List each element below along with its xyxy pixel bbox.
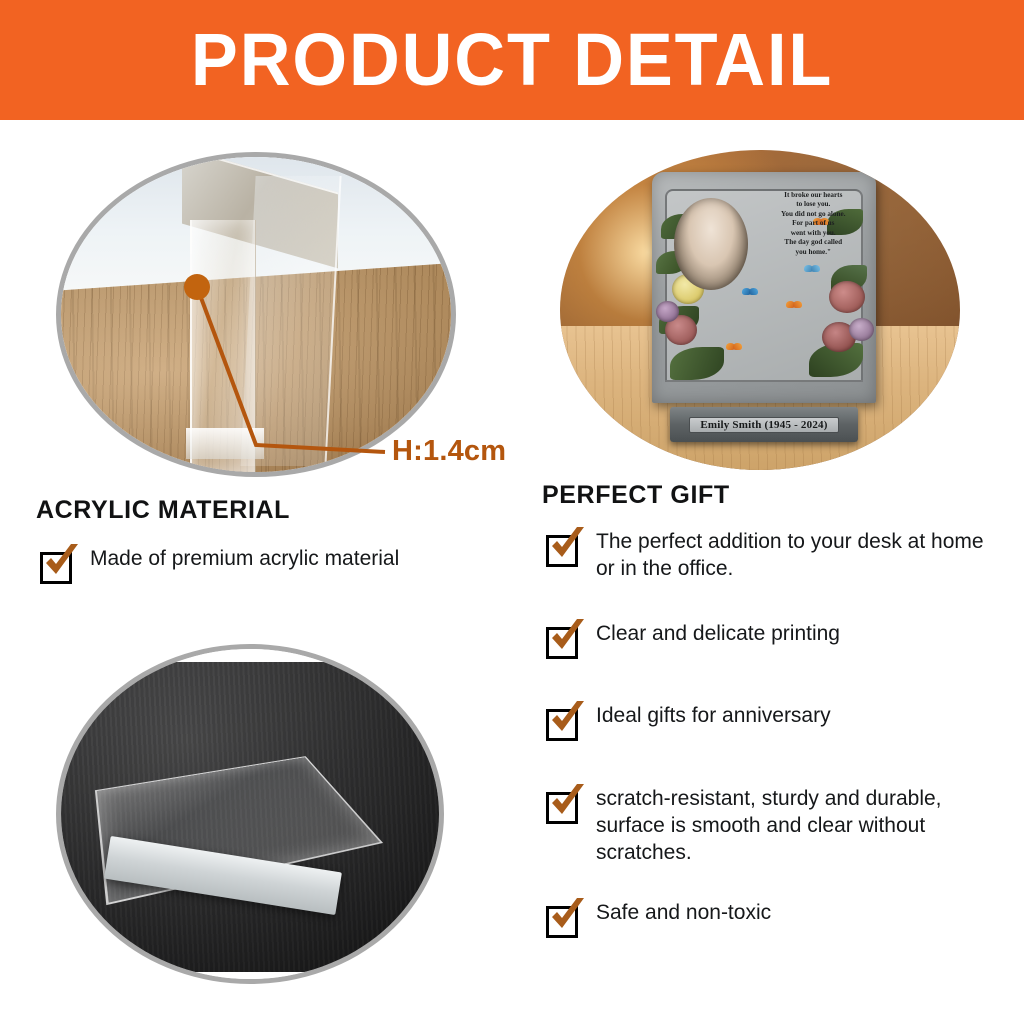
memorial-portrait (674, 198, 748, 290)
feature-bullet: scratch-resistant, sturdy and durable, s… (546, 786, 996, 867)
header-banner: PRODUCT DETAIL (0, 0, 1024, 120)
product-detail-page: PRODUCT DETAIL (0, 0, 1024, 1024)
checkmark-icon (39, 542, 81, 584)
acrylic-block-photo (56, 644, 444, 984)
feature-bullet: The perfect addition to your desk at hom… (546, 529, 996, 583)
rose-decor (829, 281, 865, 313)
checkmark-icon (545, 699, 587, 741)
section-title-acrylic-material: ACRYLIC MATERIAL (36, 496, 290, 525)
checkmark-icon (545, 525, 587, 567)
checkmark-icon (545, 617, 587, 659)
wood-scene (61, 157, 451, 472)
acrylic-edge-photo (56, 152, 456, 477)
rose-decor (849, 318, 874, 341)
checkmark-icon (545, 782, 587, 824)
checkbox-checked-icon (546, 902, 582, 938)
memorial-nameplate: Emily Smith (1945 - 2024) (670, 407, 858, 442)
page-title: PRODUCT DETAIL (191, 23, 833, 97)
feature-bullet-text: Ideal gifts for anniversary (596, 703, 831, 730)
feature-bullet: Safe and non-toxic (546, 900, 771, 938)
checkbox-checked-icon (546, 788, 582, 824)
memorial-plaque: It broke our hearts to lose you. You did… (652, 172, 876, 402)
feature-bullet-text: Clear and delicate printing (596, 621, 840, 648)
acrylic-base-highlight (186, 428, 264, 460)
checkbox-checked-icon (546, 531, 582, 567)
checkmark-icon (545, 896, 587, 938)
feature-bullet-text: scratch-resistant, sturdy and durable, s… (596, 786, 996, 867)
dimension-label: H:1.4cm (392, 435, 506, 468)
feature-bullet-text: Safe and non-toxic (596, 900, 771, 927)
feature-bullet: Clear and delicate printing (546, 621, 840, 659)
slate-scene (61, 649, 439, 979)
feature-bullet-text: Made of premium acrylic material (90, 546, 399, 573)
rose-decor (656, 301, 678, 322)
memorial-poem: It broke our hearts to lose you. You did… (757, 191, 869, 258)
feature-bullet: Made of premium acrylic material (40, 546, 399, 584)
section-title-perfect-gift: PERFECT GIFT (542, 481, 730, 510)
checkbox-checked-icon (546, 705, 582, 741)
memorial-plaque-photo: It broke our hearts to lose you. You did… (560, 150, 960, 470)
feature-bullet: Ideal gifts for anniversary (546, 703, 831, 741)
feature-bullet-text: The perfect addition to your desk at hom… (596, 529, 996, 583)
checkbox-checked-icon (546, 623, 582, 659)
nameplate-text: Emily Smith (1945 - 2024) (700, 419, 827, 431)
checkbox-checked-icon (40, 548, 76, 584)
nameplate-strip: Emily Smith (1945 - 2024) (689, 417, 838, 433)
